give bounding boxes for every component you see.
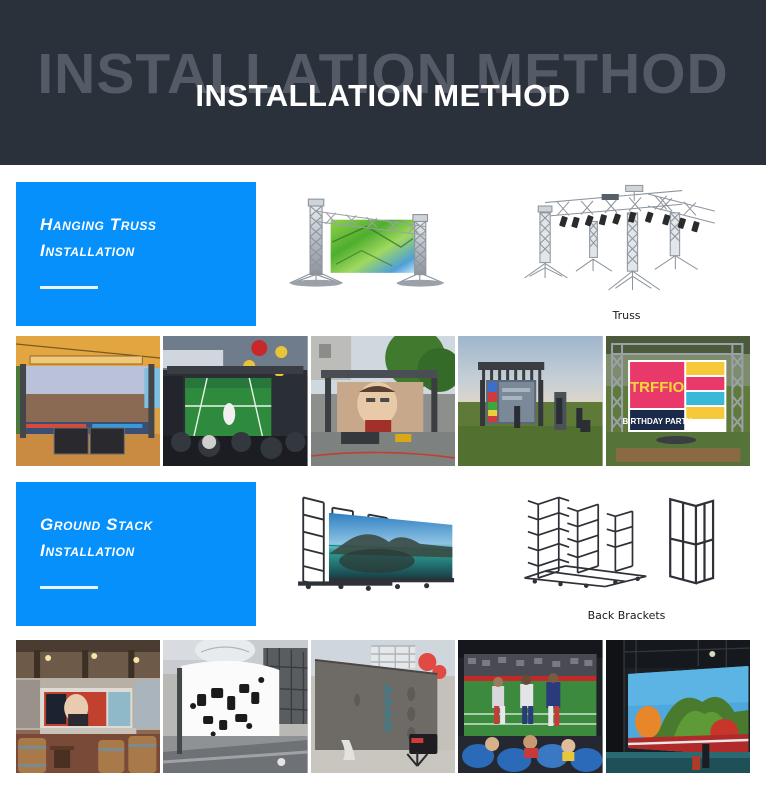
ground-stack-heading-line1: Ground Stack	[40, 515, 153, 534]
hanging-truss-diagram-area: Truss	[256, 182, 750, 326]
svg-text:BIRTHDAY PARTY: BIRTHDAY PARTY	[622, 417, 692, 426]
section-ground-stack: Ground Stack Installation	[16, 482, 750, 626]
truss-led-screen-diagram	[256, 182, 503, 326]
photo-curved-white-led-wall	[163, 640, 307, 773]
photo-indoor-venue-led-wall	[16, 336, 160, 466]
ground-stack-diagram-area: Back Brackets	[256, 482, 750, 626]
ground-stack-photo-row	[16, 640, 750, 773]
page-header: INSTALLATION METHOD INSTALLATION METHOD	[0, 0, 766, 165]
photo-winery-indoor-led-screen	[16, 640, 160, 773]
photo-outdoor-courtyard-screen	[311, 336, 455, 466]
page-title: INSTALLATION METHOD	[0, 79, 766, 113]
hanging-truss-heading-rule	[40, 286, 98, 289]
ground-stack-heading-panel: Ground Stack Installation	[16, 482, 256, 626]
ground-stack-led-wall-diagram	[256, 482, 503, 626]
hanging-truss-photo-row: TRFFIO BIRTHDAY PARTY	[16, 336, 750, 466]
hanging-truss-heading-line1: Hanging Truss	[40, 215, 157, 234]
photo-party-truss-led-wall: TRFFIO BIRTHDAY PARTY	[606, 336, 750, 466]
back-brackets-svg	[503, 482, 750, 602]
photo-outdoor-tennis-screening	[163, 336, 307, 466]
ground-stack-heading-line2: Installation	[40, 541, 135, 560]
truss-structure-svg	[503, 182, 750, 302]
truss-led-screen-svg	[256, 182, 503, 302]
svg-text:TRFFIO: TRFFIO	[630, 379, 685, 396]
section-hanging-truss: Hanging Truss Installation	[16, 182, 750, 326]
photo-showroom-led-wall	[606, 640, 750, 773]
ground-stack-led-wall-svg	[256, 482, 503, 602]
ground-stack-heading-rule	[40, 586, 98, 589]
back-brackets-diagram: Back Brackets	[503, 482, 750, 626]
truss-structure-diagram: Truss	[503, 182, 750, 326]
photo-bare-led-wall-back	[311, 640, 455, 773]
hanging-truss-heading-line2: Installation	[40, 241, 135, 260]
hanging-truss-heading-panel: Hanging Truss Installation	[16, 182, 256, 326]
truss-diagram-caption: Truss	[503, 309, 750, 322]
photo-field-led-wall-test	[458, 336, 602, 466]
back-brackets-caption: Back Brackets	[503, 609, 750, 622]
photo-soccer-match-screening	[458, 640, 602, 773]
